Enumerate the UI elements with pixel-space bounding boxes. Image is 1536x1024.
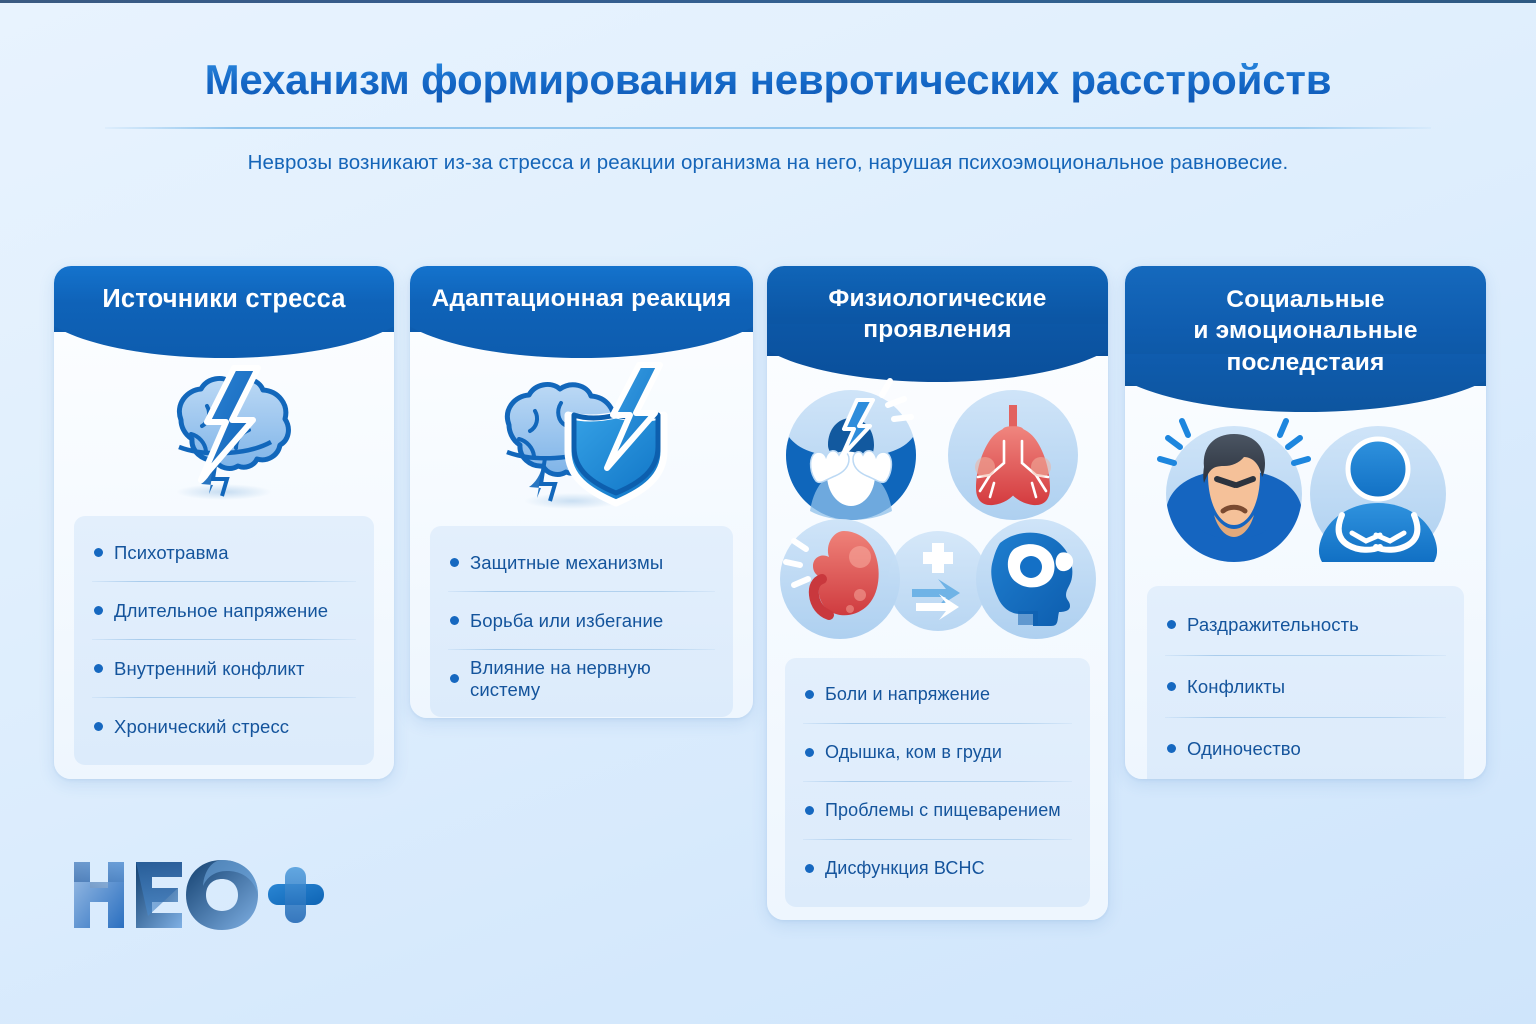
card-social-emotional-consequences[interactable]: Социальные и эмоциональные последстаия <box>1125 266 1486 779</box>
card-title: Социальные и эмоциональные последстаия <box>1125 266 1486 378</box>
bullet-icon <box>94 606 103 615</box>
list-item[interactable]: Хронический стресс <box>78 698 370 755</box>
list-item[interactable]: Одышка, ком в груди <box>789 724 1086 781</box>
list-item[interactable]: Раздражительность <box>1151 594 1460 655</box>
bullet-icon <box>805 806 814 815</box>
list-item-label: Дисфункция ВСНС <box>825 858 985 879</box>
list-item-label: Конфликты <box>1187 676 1285 698</box>
list-item[interactable]: Психотравма <box>78 524 370 581</box>
card-grid: Источники стресса <box>54 266 1486 946</box>
card-header: Социальные и эмоциональные последстаия <box>1125 266 1486 412</box>
list-item[interactable]: Длительное напряжение <box>78 582 370 639</box>
brain-shield-lightning-icon <box>410 362 753 514</box>
title-divider <box>105 127 1431 129</box>
list-item[interactable]: Внутренний конфликт <box>78 640 370 697</box>
card-title: Адаптационная реакция <box>410 266 753 313</box>
list-item-label: Хронический стресс <box>114 716 289 738</box>
card-title-line-3: последстаия <box>1125 347 1486 378</box>
page-header: Механизм формирования невротических расс… <box>0 56 1536 175</box>
bullet-icon <box>94 664 103 673</box>
bullet-icon <box>450 558 459 567</box>
list-item-label: Психотравма <box>114 542 229 564</box>
neo-plus-logo-icon <box>70 856 330 934</box>
bullet-list: Защитные механизмы Борьба или избегание … <box>430 526 733 717</box>
card-title-line-1: Физиологические <box>767 283 1108 314</box>
brain-lightning-icon <box>54 364 394 504</box>
bullet-icon <box>1167 620 1176 629</box>
list-item[interactable]: Проблемы с пищеварением <box>789 782 1086 839</box>
bullet-list: Психотравма Длительное напряжение Внутре… <box>74 516 374 765</box>
bullet-icon <box>805 864 814 873</box>
card-header: Источники стресса <box>54 266 394 358</box>
brand-logo[interactable] <box>70 856 330 934</box>
page-subtitle: Неврозы возникают из-за стресса и реакци… <box>0 151 1536 175</box>
list-item[interactable]: Дисфункция ВСНС <box>789 840 1086 897</box>
list-item-label: Внутренний конфликт <box>114 658 305 680</box>
list-item[interactable]: Конфликты <box>1151 656 1460 717</box>
list-item-label: Защитные механизмы <box>470 552 663 574</box>
list-item-label: Одиночество <box>1187 738 1301 760</box>
card-physiological-manifestations[interactable]: Физиологические проявления <box>767 266 1108 920</box>
bullet-icon <box>450 616 459 625</box>
list-item-label: Боли и напряжение <box>825 684 990 705</box>
angry-face-lonely-person-icons <box>1125 418 1486 570</box>
card-title-line-1: Социальные <box>1125 284 1486 315</box>
headache-lungs-stomach-head-icons <box>767 382 1108 652</box>
list-item[interactable]: Одиночество <box>1151 718 1460 779</box>
list-item-label: Длительное напряжение <box>114 600 328 622</box>
list-item-label: Одышка, ком в груди <box>825 742 1002 763</box>
card-header: Адаптационная реакция <box>410 266 753 358</box>
bullet-icon <box>94 548 103 557</box>
card-sources-of-stress[interactable]: Источники стресса <box>54 266 394 779</box>
list-item[interactable]: Защитные механизмы <box>434 534 729 591</box>
bullet-icon <box>94 722 103 731</box>
list-item[interactable]: Влияние на нервную систему <box>434 650 729 707</box>
list-item[interactable]: Боли и напряжение <box>789 666 1086 723</box>
bullet-icon <box>805 690 814 699</box>
card-title-line-2: и эмоциональные <box>1125 315 1486 346</box>
bullet-list: Боли и напряжение Одышка, ком в груди Пр… <box>785 658 1090 907</box>
card-adaptive-reaction[interactable]: Адаптационная реакция <box>410 266 753 718</box>
list-item[interactable]: Борьба или избегание <box>434 592 729 649</box>
card-title-line-2: проявления <box>767 314 1108 345</box>
bullet-icon <box>1167 682 1176 691</box>
list-item-label: Раздражительность <box>1187 614 1359 636</box>
bullet-icon <box>805 748 814 757</box>
bullet-icon <box>1167 744 1176 753</box>
bullet-list: Раздражительность Конфликты Одиночество <box>1147 586 1464 779</box>
bullet-icon <box>450 674 459 683</box>
card-header: Физиологические проявления <box>767 266 1108 382</box>
top-border <box>0 0 1536 3</box>
page-title: Механизм формирования невротических расс… <box>0 56 1536 104</box>
card-title: Источники стресса <box>54 266 394 314</box>
card-title: Физиологические проявления <box>767 266 1108 346</box>
list-item-label: Борьба или избегание <box>470 610 663 632</box>
list-item-label: Влияние на нервную систему <box>470 657 713 701</box>
list-item-label: Проблемы с пищеварением <box>825 800 1061 821</box>
